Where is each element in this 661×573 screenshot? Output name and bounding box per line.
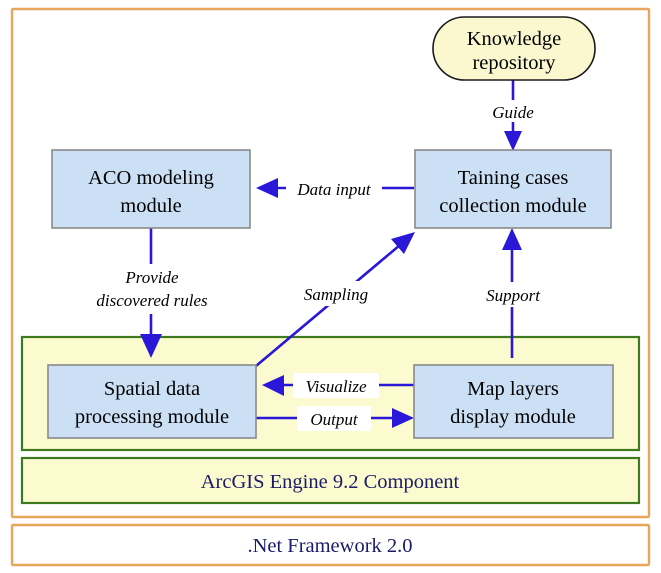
- arcgis-engine-layer-label: ArcGIS Engine 9.2 Component: [201, 471, 460, 493]
- edge-guide: Guide: [482, 80, 544, 151]
- dotnet-framework-layer-label: .Net Framework 2.0: [247, 535, 412, 557]
- edge-data-input-arrowhead: [256, 178, 278, 198]
- edge-support-arrowhead: [502, 228, 522, 250]
- edge-provide-label-line1: Provide: [124, 268, 179, 287]
- node-map-layers-display-module[interactable]: Map layers display module: [414, 365, 613, 438]
- edge-guide-label: Guide: [492, 103, 534, 122]
- edge-data-input: Data input: [256, 177, 414, 200]
- knowledge-repository-label-line2: repository: [472, 52, 556, 74]
- edge-guide-arrowhead: [504, 131, 522, 151]
- edge-output-label: Output: [310, 410, 359, 429]
- node-knowledge-repository[interactable]: Knowledge repository: [433, 17, 595, 80]
- spatial-data-label-line2: processing module: [75, 406, 229, 428]
- map-layers-label-line2: display module: [450, 406, 576, 428]
- diagram-canvas: Guide Data input Provide discovered rule…: [0, 0, 661, 573]
- knowledge-repository-label-line1: Knowledge: [467, 28, 562, 50]
- spatial-data-label-line1: Spatial data: [104, 378, 200, 400]
- map-layers-label-line1: Map layers: [467, 378, 559, 400]
- taining-cases-label-line2: collection module: [439, 195, 586, 217]
- aco-modeling-module-label-line2: module: [120, 195, 182, 217]
- aco-modeling-module-label-line1: ACO modeling: [88, 167, 214, 189]
- edge-provide-label-line2: discovered rules: [96, 291, 208, 310]
- taining-cases-label-line1: Taining cases: [458, 167, 569, 189]
- node-taining-cases-collection-module[interactable]: Taining cases collection module: [415, 150, 611, 228]
- node-aco-modeling-module[interactable]: ACO modeling module: [52, 150, 250, 228]
- edge-visualize-label: Visualize: [305, 377, 367, 396]
- edge-sampling-label: Sampling: [304, 285, 368, 304]
- edge-data-input-label: Data input: [296, 180, 371, 199]
- architecture-diagram: Guide Data input Provide discovered rule…: [0, 0, 661, 573]
- edge-support-label: Support: [486, 286, 541, 305]
- node-spatial-data-processing-module[interactable]: Spatial data processing module: [48, 365, 256, 438]
